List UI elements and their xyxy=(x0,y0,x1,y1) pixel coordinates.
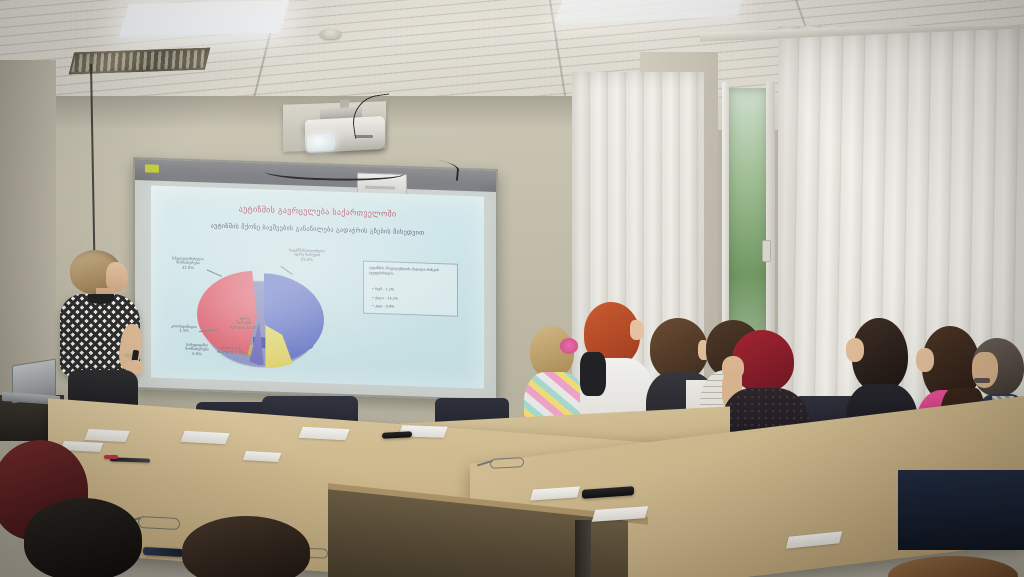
pie-label-red: სპეციალიზებული მომსახურება 31.0% xyxy=(167,256,209,271)
pen-red xyxy=(104,455,118,459)
eyeglasses xyxy=(138,516,180,530)
sticker xyxy=(145,164,159,172)
pie-label-medical: სამედიცინო მომსახურება 0.9% xyxy=(181,343,213,358)
smoke-detector-icon xyxy=(320,29,341,39)
eyeglasses xyxy=(490,457,524,469)
infobox-item: კაცი - 0.9% xyxy=(372,302,398,312)
attendee-foreground-right xyxy=(182,516,310,577)
table-leg xyxy=(575,520,591,577)
paper-sheet xyxy=(180,431,229,444)
paper-sheet xyxy=(243,451,282,462)
pie-label-blue: საგანმანათლებლო ადრე ჩარევის 55.0% xyxy=(283,248,331,263)
infobox-heading: აუტიზმის პრევალენტობა მაღალი რისკის ჯგუფ… xyxy=(369,266,455,279)
pie-label-psych: ფსიქოლოგ. მხარდაჭ. 1.0% xyxy=(213,346,249,356)
infobox-list: ბავშ - 1.3% ქალი - 14.2% კაცი - 0.9% xyxy=(372,285,398,312)
hair-flower-accessory xyxy=(560,338,578,354)
conference-room-photo: აუტიზმის გავრცელება საქართველოში აუტიზმი… xyxy=(0,0,1024,577)
presenter-collar xyxy=(88,294,114,304)
attendee-face xyxy=(630,320,644,340)
slide-title: აუტიზმის გავრცელება საქართველოში xyxy=(151,202,484,222)
pie-label-yellow: ადრე ჩარევის სერვისი 12.1% xyxy=(227,316,261,331)
attendee-foreground-far-right xyxy=(888,556,1018,577)
projected-slide: აუტიზმის გავრცელება საქართველოში აუტიზმი… xyxy=(151,186,484,389)
infobox-item: ბავშ - 1.3% xyxy=(372,285,398,295)
fluorescent-light-panel xyxy=(119,0,290,37)
slide-infobox: აუტიზმის პრევალენტობა მაღალი რისკის ჯგუფ… xyxy=(363,261,458,317)
attendee-shoulder-dark xyxy=(580,352,606,396)
attendee-face-profile xyxy=(846,338,864,362)
moustache xyxy=(974,378,990,383)
projector-lens xyxy=(307,133,335,152)
attendee-foreground-center xyxy=(24,498,142,577)
attendee-foreground-shoulder xyxy=(898,470,1024,550)
pie-chart: საგანმანათლებლო ადრე ჩარევის 55.0% სპეცი… xyxy=(165,238,355,372)
window-handle xyxy=(762,240,771,262)
whiteboard: აუტიზმის გავრცელება საქართველოში აუტიზმი… xyxy=(133,157,498,401)
paper-sheet xyxy=(84,429,130,442)
pie-label-purple: კოორდინაცია 1.1% xyxy=(167,324,201,334)
attendee-face-profile xyxy=(916,348,934,372)
slide-subtitle: აუტიზმის მქონე ბავშვების განაწილება გადა… xyxy=(151,221,484,239)
